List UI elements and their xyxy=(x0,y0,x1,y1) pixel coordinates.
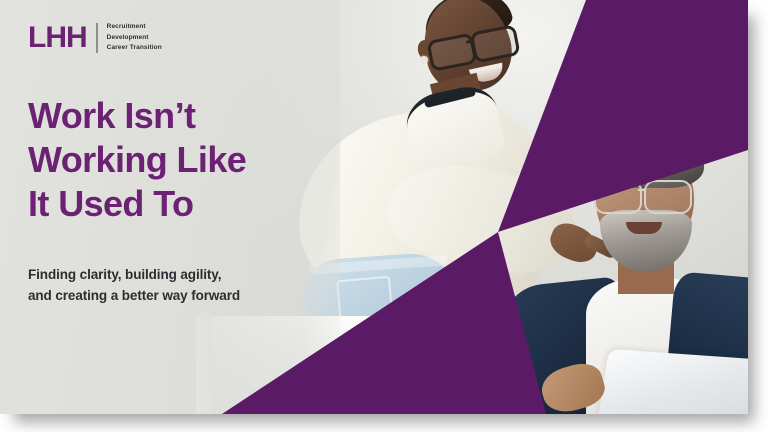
subheadline-line-1: Finding clarity, building agility, xyxy=(28,264,318,285)
woman-earring xyxy=(420,56,428,64)
lhh-wordmark: LHH xyxy=(28,23,87,53)
logo-tagline-line-2: Development xyxy=(107,33,162,44)
lhh-logo: LHH Recruitment Development Career Trans… xyxy=(28,22,162,54)
headline-line-3: It Used To xyxy=(28,182,328,226)
logo-tagline-line-3: Career Transition xyxy=(107,43,162,54)
logo-tagline: Recruitment Development Career Transitio… xyxy=(107,22,162,54)
man-hair xyxy=(584,118,704,188)
headline-line-2: Working Like xyxy=(28,138,328,182)
logo-tagline-line-1: Recruitment xyxy=(107,22,162,33)
man-glasses-lens-left xyxy=(594,180,642,214)
seated-person-figure xyxy=(556,118,748,414)
man-glasses-lens-right xyxy=(644,180,692,214)
man-glasses xyxy=(594,180,698,210)
slide-root: LHH Recruitment Development Career Trans… xyxy=(0,0,768,432)
logo-divider xyxy=(96,23,98,53)
subheadline-line-2: and creating a better way forward xyxy=(28,285,318,306)
headline-line-1: Work Isn’t xyxy=(28,94,328,138)
presentation-slide-card: LHH Recruitment Development Career Trans… xyxy=(0,0,748,414)
man-glasses-bridge xyxy=(638,189,646,191)
laptop xyxy=(591,349,748,414)
slide-headline: Work Isn’t Working Like It Used To xyxy=(28,94,328,226)
slide-subheadline: Finding clarity, building agility, and c… xyxy=(28,264,318,306)
man-beard xyxy=(600,210,692,272)
